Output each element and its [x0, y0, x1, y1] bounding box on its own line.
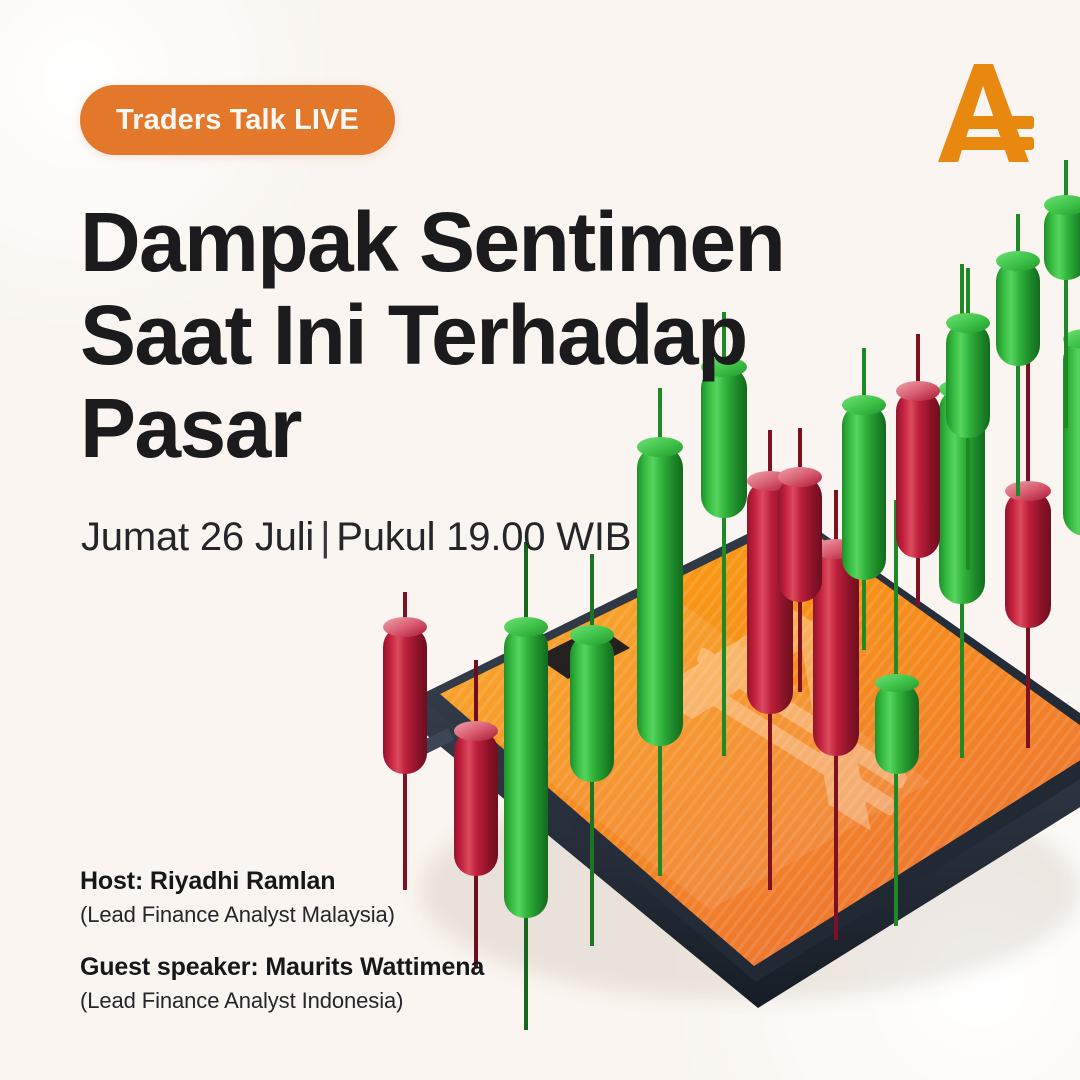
- page-title: Dampak Sentimen Saat Ini Terhadap Pasar: [80, 196, 840, 474]
- host-name: Host: Riyadhi Ramlan: [80, 866, 395, 897]
- schedule-separator: |: [314, 515, 336, 559]
- schedule-line: Jumat 26 Juli|Pukul 19.00 WIB: [81, 513, 631, 561]
- candle-14: [842, 348, 886, 650]
- brand-logo[interactable]: [936, 58, 1038, 166]
- live-badge-label: Traders Talk LIVE: [116, 106, 359, 135]
- headline-line-3: Pasar: [80, 382, 840, 475]
- schedule-time: Pukul 19.00 WIB: [336, 515, 631, 559]
- candle-18: [1044, 160, 1080, 428]
- candle-15: [896, 334, 940, 606]
- live-badge[interactable]: Traders Talk LIVE: [80, 85, 395, 155]
- guest-speaker-block: Guest speaker: Maurits Wattimena (Lead F…: [80, 952, 484, 1015]
- candle-17: [996, 214, 1040, 496]
- host-role: (Lead Finance Analyst Malaysia): [80, 901, 395, 930]
- poster-canvas: Traders Talk LIVE Dampak Sentimen Saat I…: [0, 0, 1080, 1080]
- candle-1: [383, 592, 427, 890]
- candle-16: [946, 268, 990, 570]
- schedule-date: Jumat 26 Juli: [81, 515, 314, 559]
- guest-speaker-name: Guest speaker: Maurits Wattimena: [80, 952, 484, 983]
- a-logo-mark: [938, 64, 1034, 162]
- guest-speaker-role: (Lead Finance Analyst Indonesia): [80, 987, 484, 1016]
- host-block: Host: Riyadhi Ramlan (Lead Finance Analy…: [80, 866, 395, 929]
- headline-line-2: Saat Ini Terhadap: [80, 289, 840, 382]
- headline-line-1: Dampak Sentimen: [80, 196, 840, 289]
